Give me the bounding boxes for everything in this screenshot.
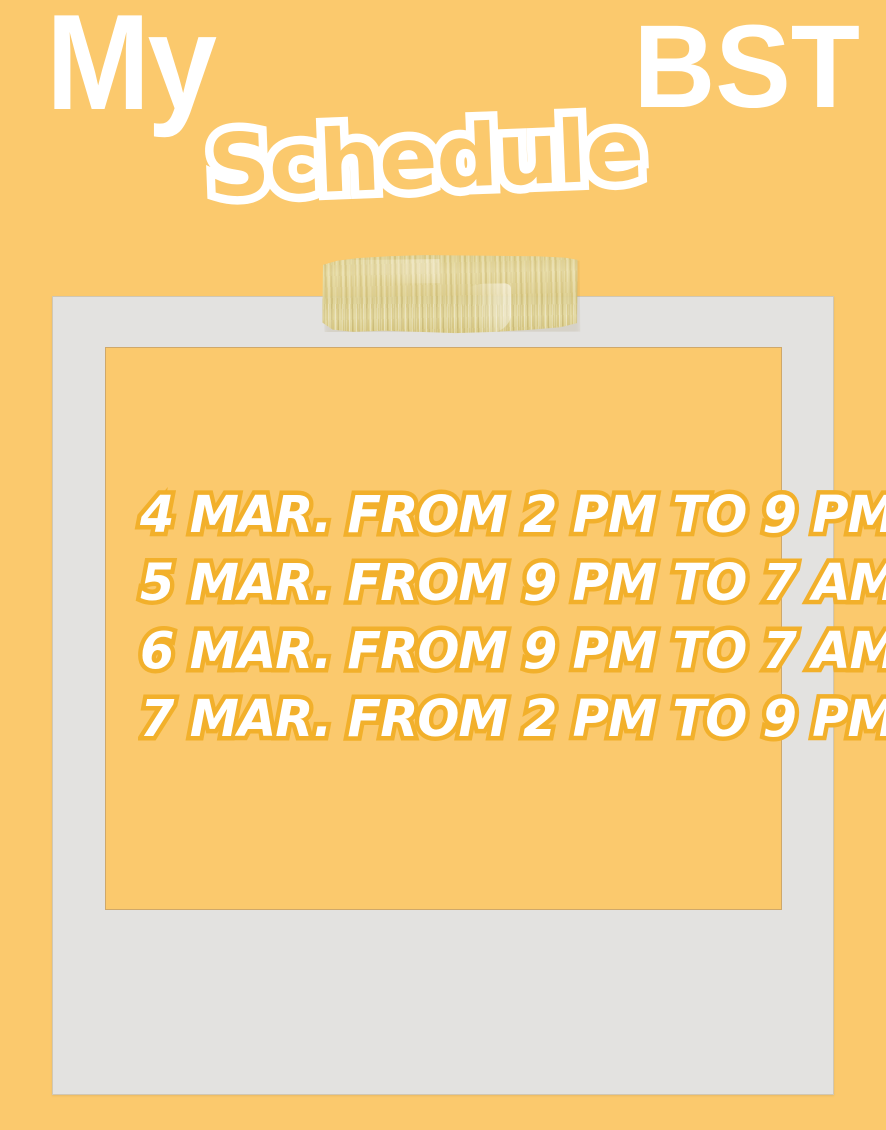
schedule-poster: My BST Schedule 4 MAR. FROM 2 PM TO 9 PM… xyxy=(0,0,886,1130)
header-title-left: My xyxy=(46,0,214,130)
washi-tape-highlight xyxy=(337,259,440,284)
washi-tape-crease xyxy=(450,284,512,334)
header-script-wrap: Schedule xyxy=(206,107,644,210)
washi-tape-body xyxy=(322,253,579,336)
schedule-line: 5 MAR. FROM 9 PM TO 7 AM xyxy=(140,550,741,618)
schedule-line: 6 MAR. FROM 9 PM TO 7 AM xyxy=(140,618,741,686)
schedule-line: 7 MAR. FROM 2 PM TO 9 PM xyxy=(140,686,741,754)
header-title-right: BST xyxy=(633,8,860,126)
header-title-script: Schedule xyxy=(206,107,644,210)
schedule-line: 4 MAR. FROM 2 PM TO 9 PM xyxy=(140,482,741,550)
schedule-list: 4 MAR. FROM 2 PM TO 9 PM 5 MAR. FROM 9 P… xyxy=(140,482,760,754)
washi-tape-icon xyxy=(322,253,579,336)
